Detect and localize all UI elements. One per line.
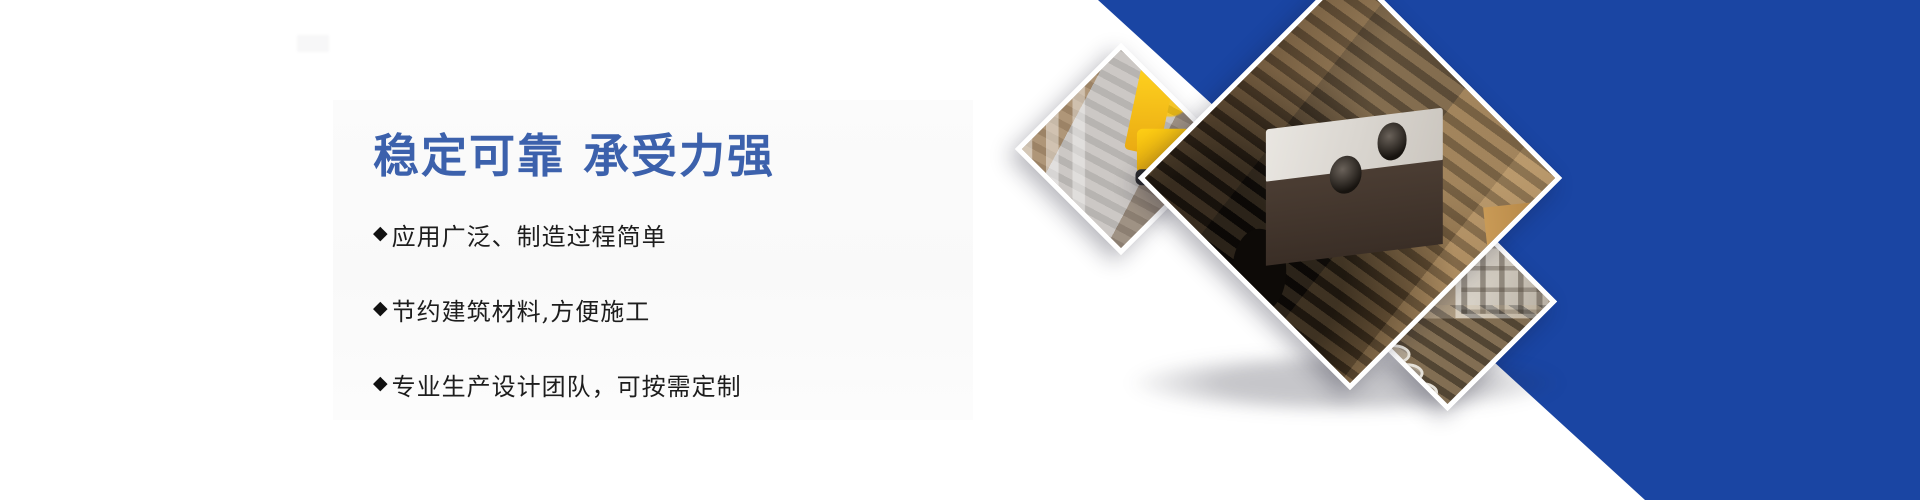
diamond-photo-gallery [1100,0,1600,500]
ghost-chip-artifact [297,35,329,52]
list-item-label: 专业生产设计团队，可按需定制 [392,367,742,402]
diamond-bullet-icon: ◆ [373,224,389,243]
list-item: ◆ 专业生产设计团队，可按需定制 [373,367,973,402]
list-item-label: 节约建筑材料,方便施工 [392,292,651,327]
diamond-bullet-icon: ◆ [373,374,389,393]
diamond-bullet-icon: ◆ [373,299,389,318]
feature-list: ◆ 应用广泛、制造过程简单 ◆ 节约建筑材料,方便施工 ◆ 专业生产设计团队，可… [373,217,973,402]
promo-banner: 稳定可靠 承受力强 ◆ 应用广泛、制造过程简单 ◆ 节约建筑材料,方便施工 ◆ … [0,0,1920,500]
page-title: 稳定可靠 承受力强 [373,130,973,183]
list-item: ◆ 节约建筑材料,方便施工 [373,292,973,327]
timber-plank [1483,198,1562,245]
concrete-tank [1266,108,1443,264]
text-panel: 稳定可靠 承受力强 ◆ 应用广泛、制造过程简单 ◆ 节约建筑材料,方便施工 ◆ … [333,100,973,420]
list-item-label: 应用广泛、制造过程简单 [392,217,667,252]
list-item: ◆ 应用广泛、制造过程简单 [373,217,973,252]
